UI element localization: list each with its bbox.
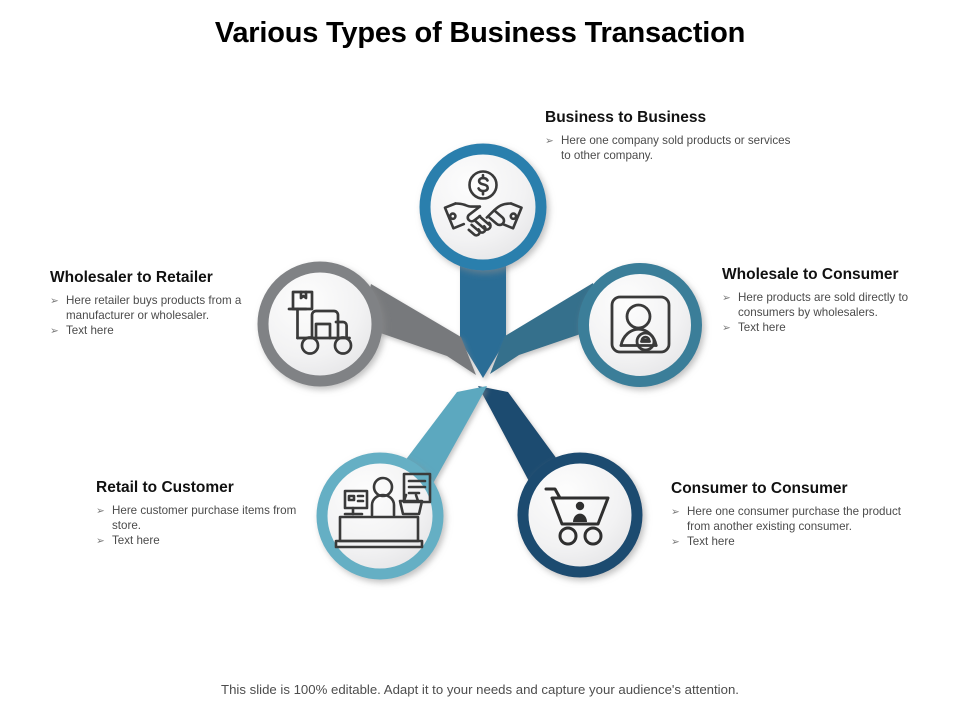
node-title-consumer-to-consumer: Consumer to Consumer [671,479,911,498]
node-title-wholesaler-to-retailer: Wholesaler to Retailer [50,268,290,287]
slide-canvas: Various Types of Business Transaction [0,0,960,720]
node-circle-business-to-business[interactable] [425,149,541,265]
bullet-list-consumer-to-consumer: ➢ Here one consumer purchase the product… [671,505,911,550]
ring-business-to-business [425,149,541,265]
text-block-retail-to-customer: Retail to Customer ➢ Here customer purch… [96,478,326,550]
list-item: ➢ Here retailer buys products from a man… [50,294,290,323]
node-circle-consumer-to-consumer[interactable] [523,458,637,572]
bullet-arrow-icon: ➢ [545,134,554,149]
bullet-arrow-icon: ➢ [671,535,680,550]
list-item-text: Text here [66,324,114,337]
node-title-retail-to-customer: Retail to Customer [96,478,326,497]
list-item: ➢ Here customer purchase items from stor… [96,504,326,533]
list-item: ➢ Here one company sold products or serv… [545,134,795,163]
bullet-arrow-icon: ➢ [50,294,59,309]
list-item-text: Here one consumer purchase the product f… [687,505,901,533]
bullet-arrow-icon: ➢ [50,324,59,339]
node-title-business-to-business: Business to Business [545,108,795,127]
bullet-arrow-icon: ➢ [722,291,731,306]
bullet-list-retail-to-customer: ➢ Here customer purchase items from stor… [96,504,326,549]
list-item-text: Here one company sold products or servic… [561,134,790,162]
text-block-wholesaler-to-retailer: Wholesaler to Retailer ➢ Here retailer b… [50,268,290,340]
list-item: ➢ Text here [50,324,290,339]
list-item-text: Text here [687,535,735,548]
text-block-consumer-to-consumer: Consumer to Consumer ➢ Here one consumer… [671,479,911,551]
node-title-wholesale-to-consumer: Wholesale to Consumer [722,265,950,284]
list-item-text: Here products are sold directly to consu… [738,291,908,319]
node-circle-wholesale-to-consumer[interactable] [584,269,697,382]
ring-wholesale-to-consumer [584,269,697,382]
list-item-text: Here retailer buys products from a manuf… [66,294,241,322]
bullet-arrow-icon: ➢ [671,505,680,520]
bullet-arrow-icon: ➢ [722,321,731,336]
bullet-list-wholesaler-to-retailer: ➢ Here retailer buys products from a man… [50,294,290,339]
text-block-business-to-business: Business to Business ➢ Here one company … [545,108,795,164]
hub-and-spoke-diagram [0,0,960,720]
footer-note: This slide is 100% editable. Adapt it to… [0,681,960,699]
bullet-arrow-icon: ➢ [96,534,105,549]
list-item: ➢ Here products are sold directly to con… [722,291,950,320]
node-circle-retail-to-customer[interactable] [322,458,438,574]
list-item: ➢ Text here [671,535,911,550]
list-item-text: Text here [738,321,786,334]
bullet-arrow-icon: ➢ [96,504,105,519]
bullet-list-business-to-business: ➢ Here one company sold products or serv… [545,134,795,163]
spoke-group [360,248,604,487]
list-item: ➢ Here one consumer purchase the product… [671,505,911,534]
list-item: ➢ Text here [96,534,326,549]
text-block-wholesale-to-consumer: Wholesale to Consumer ➢ Here products ar… [722,265,950,337]
diagram-svg [0,0,960,720]
list-item: ➢ Text here [722,321,950,336]
bullet-list-wholesale-to-consumer: ➢ Here products are sold directly to con… [722,291,950,336]
list-item-text: Text here [112,534,160,547]
list-item-text: Here customer purchase items from store. [112,504,296,532]
